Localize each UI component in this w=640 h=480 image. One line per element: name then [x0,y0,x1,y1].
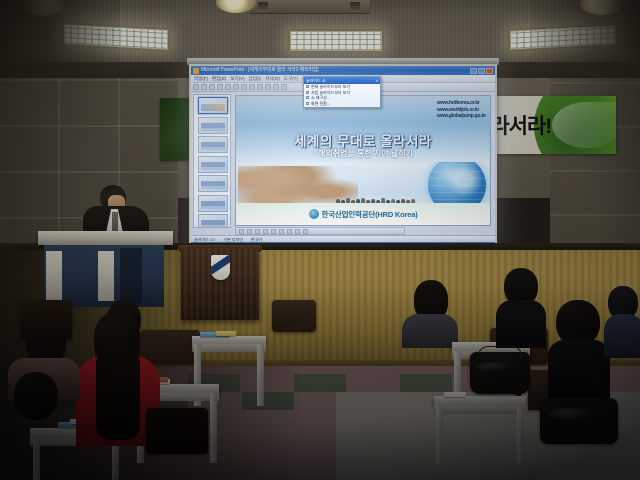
torso-beige [0,410,78,480]
student-desk [434,396,526,406]
drawing-toolbar[interactable] [235,227,405,235]
popup-title: 슬라이드 쇼 [306,77,326,84]
chair-back-foreground [20,300,72,340]
slideshow-popup-dialog[interactable]: 슬라이드 쇼 X 현재 슬라이드부터 보기 처음 슬라이드부터 보기 쇼 재구성… [303,76,381,108]
draw-rect-icon[interactable] [263,229,268,234]
menu-item-format[interactable]: 서식(O) [265,75,280,83]
podium-shadow [120,248,142,304]
bullet-icon [306,102,309,105]
popup-item-label: 화면 전환... [311,101,330,107]
slide-thumbnail[interactable]: 5 [198,175,228,192]
powerpoint-icon [193,68,199,74]
draw-select-icon[interactable] [239,229,244,234]
ceiling-shadow-right [530,0,640,82]
audience-member-beige [0,388,84,480]
toolbar-redo-icon[interactable] [257,84,263,90]
presenter-tie [112,212,118,233]
podium-panel-left [46,251,62,301]
menu-item-tools[interactable]: 도구(T) [284,75,298,83]
slide-thumbnail[interactable]: 1 [198,97,228,114]
toolbar-print-icon[interactable] [217,84,223,90]
handbag-right [470,352,530,394]
draw-textbox-icon[interactable] [279,229,284,234]
menu-item-view[interactable]: 보기(V) [230,75,244,83]
slide-urls: www.hrdkorea.or.kr www.worldjob.or.kr ww… [437,100,486,120]
bullet-icon [306,96,309,99]
podium-panel-right [98,251,114,301]
torso [548,340,610,404]
menu-item-edit[interactable]: 편집(E) [212,75,226,83]
slide-subtitle: - 해외취업을 통한 시야 넓히기 [236,148,490,159]
handbag-front [540,398,618,444]
popup-menu-item[interactable]: 화면 전환... [304,101,380,107]
student-desk [192,336,266,344]
audience-member-right-1 [492,268,548,346]
menu-item-insert[interactable]: 삽입(I) [249,75,262,83]
slide-thumbnail[interactable]: 6 [198,195,228,212]
desk-paper-yellow [216,331,236,336]
draw-line-icon[interactable] [247,229,252,234]
toolbar-insert-chart-icon[interactable] [265,84,271,90]
toolbar-save-icon[interactable] [209,84,215,90]
hrd-korea-logo-icon [309,209,319,219]
draw-arrow-icon[interactable] [255,229,260,234]
slide-thumbnail-pane[interactable]: 1 2 3 4 5 [193,94,231,228]
status-bar: 슬라이드 1/7 기본 디자인 한국어 [191,235,495,242]
lectern: emblem [181,248,259,320]
slide-footer-text: 한국산업인력공단(HRD Korea) [322,209,418,220]
audience-member-grey [400,280,460,346]
bag-strap [478,346,521,358]
maximize-button[interactable] [478,68,485,74]
chair-back [272,300,316,332]
slide-thumbnail[interactable]: 4 [198,156,228,173]
toolbar-open-icon[interactable] [201,84,207,90]
torso [604,314,640,358]
toolbar-paste-icon[interactable] [241,84,247,90]
projection-screen: Microsoft PowerPoint - [세계의무대로 올라 서라2-해외… [189,64,497,254]
slide-thumbnail[interactable]: 3 [198,136,228,153]
close-button[interactable] [486,68,493,74]
slide-canvas[interactable]: www.hrdkorea.or.kr www.worldjob.or.kr ww… [235,95,491,226]
powerpoint-window[interactable]: Microsoft PowerPoint - [세계의무대로 올라 서라2-해외… [191,66,495,252]
torso [496,300,546,348]
minimize-button[interactable] [470,68,477,74]
draw-fill-icon[interactable] [295,229,300,234]
draw-linecolor-icon[interactable] [303,229,308,234]
torso [402,314,458,348]
ceiling-light-panel-2 [288,29,384,53]
toolbar-undo-icon[interactable] [249,84,255,90]
ceiling-shadow-left [0,0,120,82]
lecture-hall-photo: (…장) 올라서라! 1115 Microsoft PowerPoint - [… [0,0,640,480]
chair-back-foreground [146,408,208,454]
institution-crest-icon: emblem [211,255,230,280]
bullet-icon [306,91,309,94]
slide-thumbnail[interactable]: 7 [198,214,228,228]
popup-close-icon[interactable]: X [375,77,378,84]
podium-desktop [38,231,173,245]
draw-wordart-icon[interactable] [287,229,292,234]
menu-item-file[interactable]: 파일(F) [194,75,208,83]
draw-oval-icon[interactable] [271,229,276,234]
desk-paper [444,392,466,397]
slide-title: 세계의 무대로 올라서라 [236,130,490,150]
banner-swoosh-highlight [552,102,616,148]
toolbar-cut-icon[interactable] [225,84,231,90]
slide-thumbnail[interactable]: 2 [198,117,228,134]
slide-footer: 한국산업인력공단(HRD Korea) [236,203,490,225]
toolbar-zoom-icon[interactable] [281,84,287,90]
popup-titlebar: 슬라이드 쇼 X [304,77,380,84]
toolbar-copy-icon[interactable] [233,84,239,90]
toolbar-table-icon[interactable] [273,84,279,90]
audience-member-far-right [604,286,640,356]
bullet-icon [306,85,309,88]
long-hair [96,342,140,440]
toolbar-new-icon[interactable] [193,84,199,90]
air-vent-icon [250,0,370,14]
